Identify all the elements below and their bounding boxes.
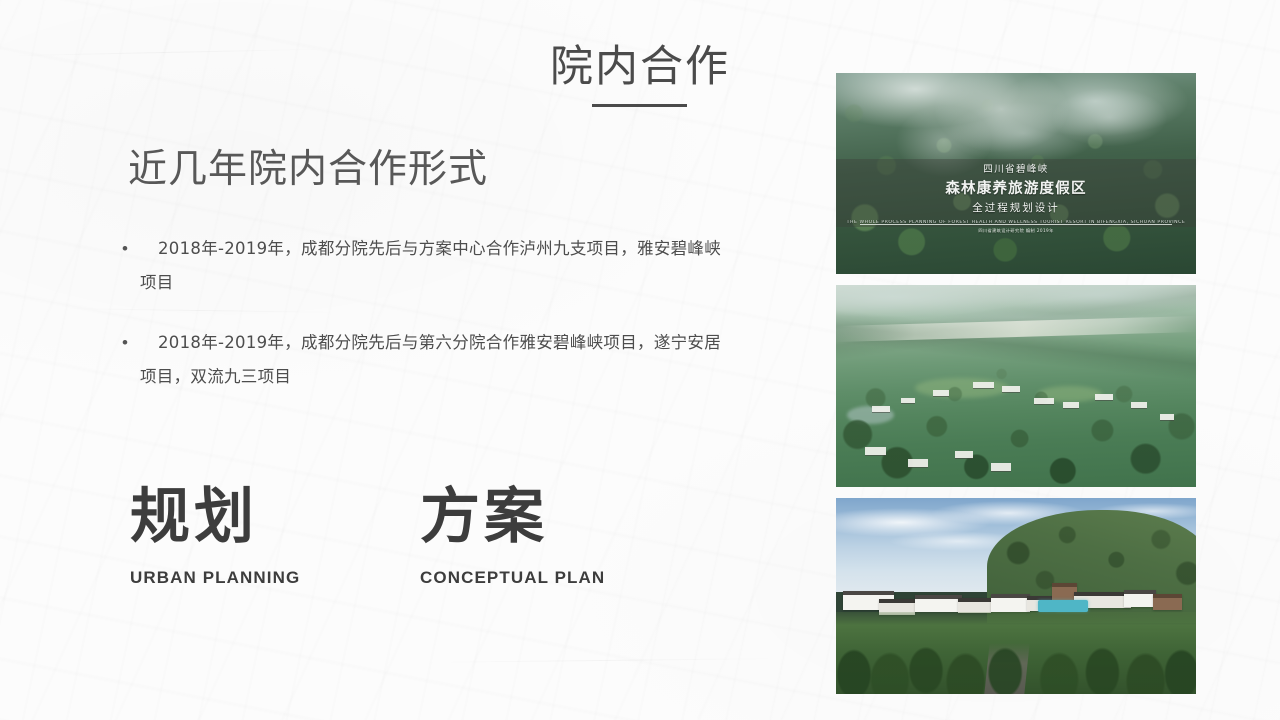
overlay-line-project: 森林康养旅游度假区 bbox=[836, 177, 1196, 198]
bullet-marker-icon: • bbox=[122, 326, 140, 360]
presentation-slide: 院内合作 近几年院内合作形式 • 2018年-2019年，成都分院先后与方案中心… bbox=[0, 0, 1280, 720]
list-item-text: 2018年-2019年，成都分院先后与第六分院合作雅安碧峰峡项目，遂宁安居项目，… bbox=[140, 326, 722, 394]
photo-foreground-tree-layer bbox=[836, 604, 1196, 694]
title-divider bbox=[592, 104, 687, 107]
overlay-credit: 四川省建筑设计研究院 编制 2019年 bbox=[836, 228, 1196, 234]
paper-crease bbox=[420, 658, 780, 663]
bullet-list: • 2018年-2019年，成都分院先后与方案中心合作泸州九支项目，雅安碧峰峡项… bbox=[122, 232, 722, 420]
overlay-line-scope: 全过程规划设计 bbox=[836, 200, 1196, 215]
keyword-cn-label: 规划 bbox=[130, 482, 300, 552]
overlay-line-region: 四川省碧峰峡 bbox=[836, 161, 1196, 175]
overlay-rule bbox=[860, 224, 1172, 225]
image-valley-resort-aerial-rendering bbox=[836, 285, 1196, 487]
list-item: • 2018年-2019年，成都分院先后与第六分院合作雅安碧峰峡项目，遂宁安居项… bbox=[122, 326, 722, 394]
section-subtitle: 近几年院内合作形式 bbox=[128, 138, 488, 194]
keyword-en-label: CONCEPTUAL PLAN bbox=[420, 568, 605, 588]
bullet-marker-icon: • bbox=[122, 232, 140, 266]
keyword-en-label: URBAN PLANNING bbox=[130, 568, 300, 588]
image-forest-aerial-cover: 四川省碧峰峡 森林康养旅游度假区 全过程规划设计 THE WHOLE PROCE… bbox=[836, 73, 1196, 274]
image-resort-village-rendering bbox=[836, 498, 1196, 694]
list-item-text: 2018年-2019年，成都分院先后与方案中心合作泸州九支项目，雅安碧峰峡项目 bbox=[140, 232, 722, 300]
keyword-conceptual-plan: 方案 CONCEPTUAL PLAN bbox=[420, 482, 605, 588]
keyword-urban-planning: 规划 URBAN PLANNING bbox=[130, 482, 300, 588]
photo-building-layer bbox=[836, 285, 1196, 487]
photo-title-overlay-text: 四川省碧峰峡 森林康养旅游度假区 全过程规划设计 THE WHOLE PROCE… bbox=[836, 161, 1196, 225]
image-gallery: 四川省碧峰峡 森林康养旅游度假区 全过程规划设计 THE WHOLE PROCE… bbox=[836, 73, 1196, 694]
keyword-cn-label: 方案 bbox=[420, 482, 605, 552]
list-item: • 2018年-2019年，成都分院先后与方案中心合作泸州九支项目，雅安碧峰峡项… bbox=[122, 232, 722, 300]
